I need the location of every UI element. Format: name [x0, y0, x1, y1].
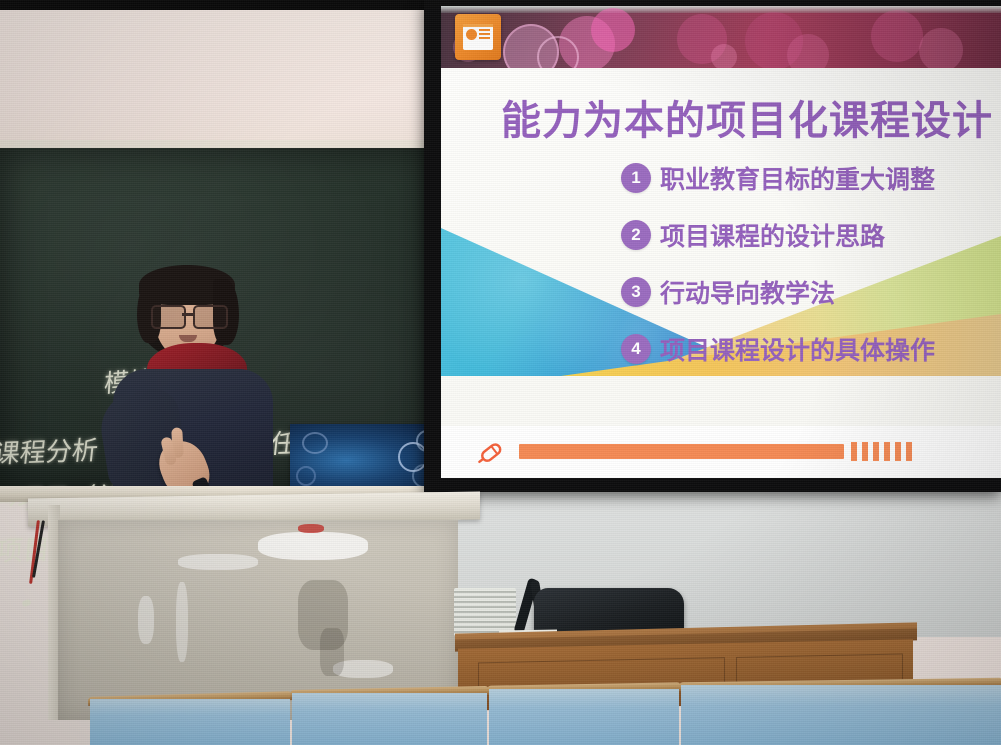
slide-bullet-list: 1 职业教育目标的重大调整 2 项目课程的设计思路 3 行动导向教学法 4 项目… [621, 160, 935, 388]
wall-upper-left [0, 0, 440, 146]
smudge-4 [176, 582, 188, 662]
tick-1 [851, 442, 857, 461]
glasses-lens-left [151, 305, 186, 329]
screen-top-gloss [441, 6, 1001, 13]
bullet-number-2: 2 [621, 220, 651, 250]
slide-footer [441, 426, 1001, 478]
glasses-lens-right [193, 305, 228, 329]
bokeh-7 [787, 34, 829, 68]
pencil-icon [475, 438, 509, 466]
tick-5 [895, 442, 901, 461]
glasses [151, 305, 227, 325]
student-desk-3 [489, 689, 679, 745]
bokeh-11 [711, 44, 737, 68]
bullet-item-2: 2 项目课程的设计思路 [621, 217, 935, 253]
bullet-number-1: 1 [621, 163, 651, 193]
student-desk-2 [292, 693, 487, 745]
tick-6 [906, 442, 912, 461]
footer-tick-marks [851, 442, 912, 461]
bokeh-8 [871, 10, 923, 62]
smudge-1 [258, 532, 368, 560]
classroom-photo-scene: 模块→项目 项目 课程分析 —— 典型工作任务 →项目（单元 项目 ＞ 训练内容… [0, 0, 1001, 745]
smudge-3 [138, 596, 154, 644]
slide-content: 能力为本的项目化课程设计 1 职业教育目标的重大调整 2 项目课程的设计思路 3… [441, 68, 1001, 478]
raised-arm [96, 385, 190, 492]
bokeh-9 [919, 28, 963, 68]
bullet-text-3: 行动导向教学法 [660, 274, 835, 310]
bullet-item-3: 3 行动导向教学法 [621, 274, 935, 310]
tick-4 [884, 442, 890, 461]
smudge-2 [178, 554, 258, 570]
slide-surface: 能力为本的项目化课程设计 1 职业教育目标的重大调整 2 项目课程的设计思路 3… [441, 6, 1001, 478]
student-desk-4 [681, 685, 1001, 745]
swirl-3 [302, 432, 328, 454]
slide-header-band [441, 6, 1001, 68]
bullet-number-4: 4 [621, 334, 651, 364]
tick-2 [862, 442, 868, 461]
glasses-bridge [182, 313, 194, 316]
paper-stack [454, 588, 516, 636]
swirl-5 [296, 466, 316, 486]
bullet-text-1: 职业教育目标的重大调整 [660, 160, 935, 196]
ppt-glyph [463, 24, 493, 50]
bullet-text-2: 项目课程的设计思路 [660, 217, 885, 253]
teacher-figure [95, 265, 290, 505]
bullet-item-1: 1 职业教育目标的重大调整 [621, 160, 935, 196]
blue-decorative-panel [290, 424, 438, 490]
bullet-item-4: 4 项目课程设计的具体操作 [621, 331, 935, 367]
smudge-dark-2 [320, 628, 344, 676]
slide-title: 能力为本的项目化课程设计 [501, 88, 993, 146]
bullet-text-4: 项目课程设计的具体操作 [660, 331, 935, 367]
powerpoint-presentation-icon[interactable] [455, 14, 501, 60]
bokeh-2 [591, 8, 635, 52]
smudge-red [298, 524, 324, 533]
projection-screen: 能力为本的项目化课程设计 1 职业教育目标的重大调整 2 项目课程的设计思路 3… [424, 0, 1001, 492]
footer-progress-bar [519, 444, 844, 459]
student-desk-1 [90, 699, 290, 745]
bullet-number-3: 3 [621, 277, 651, 307]
tick-3 [873, 442, 879, 461]
